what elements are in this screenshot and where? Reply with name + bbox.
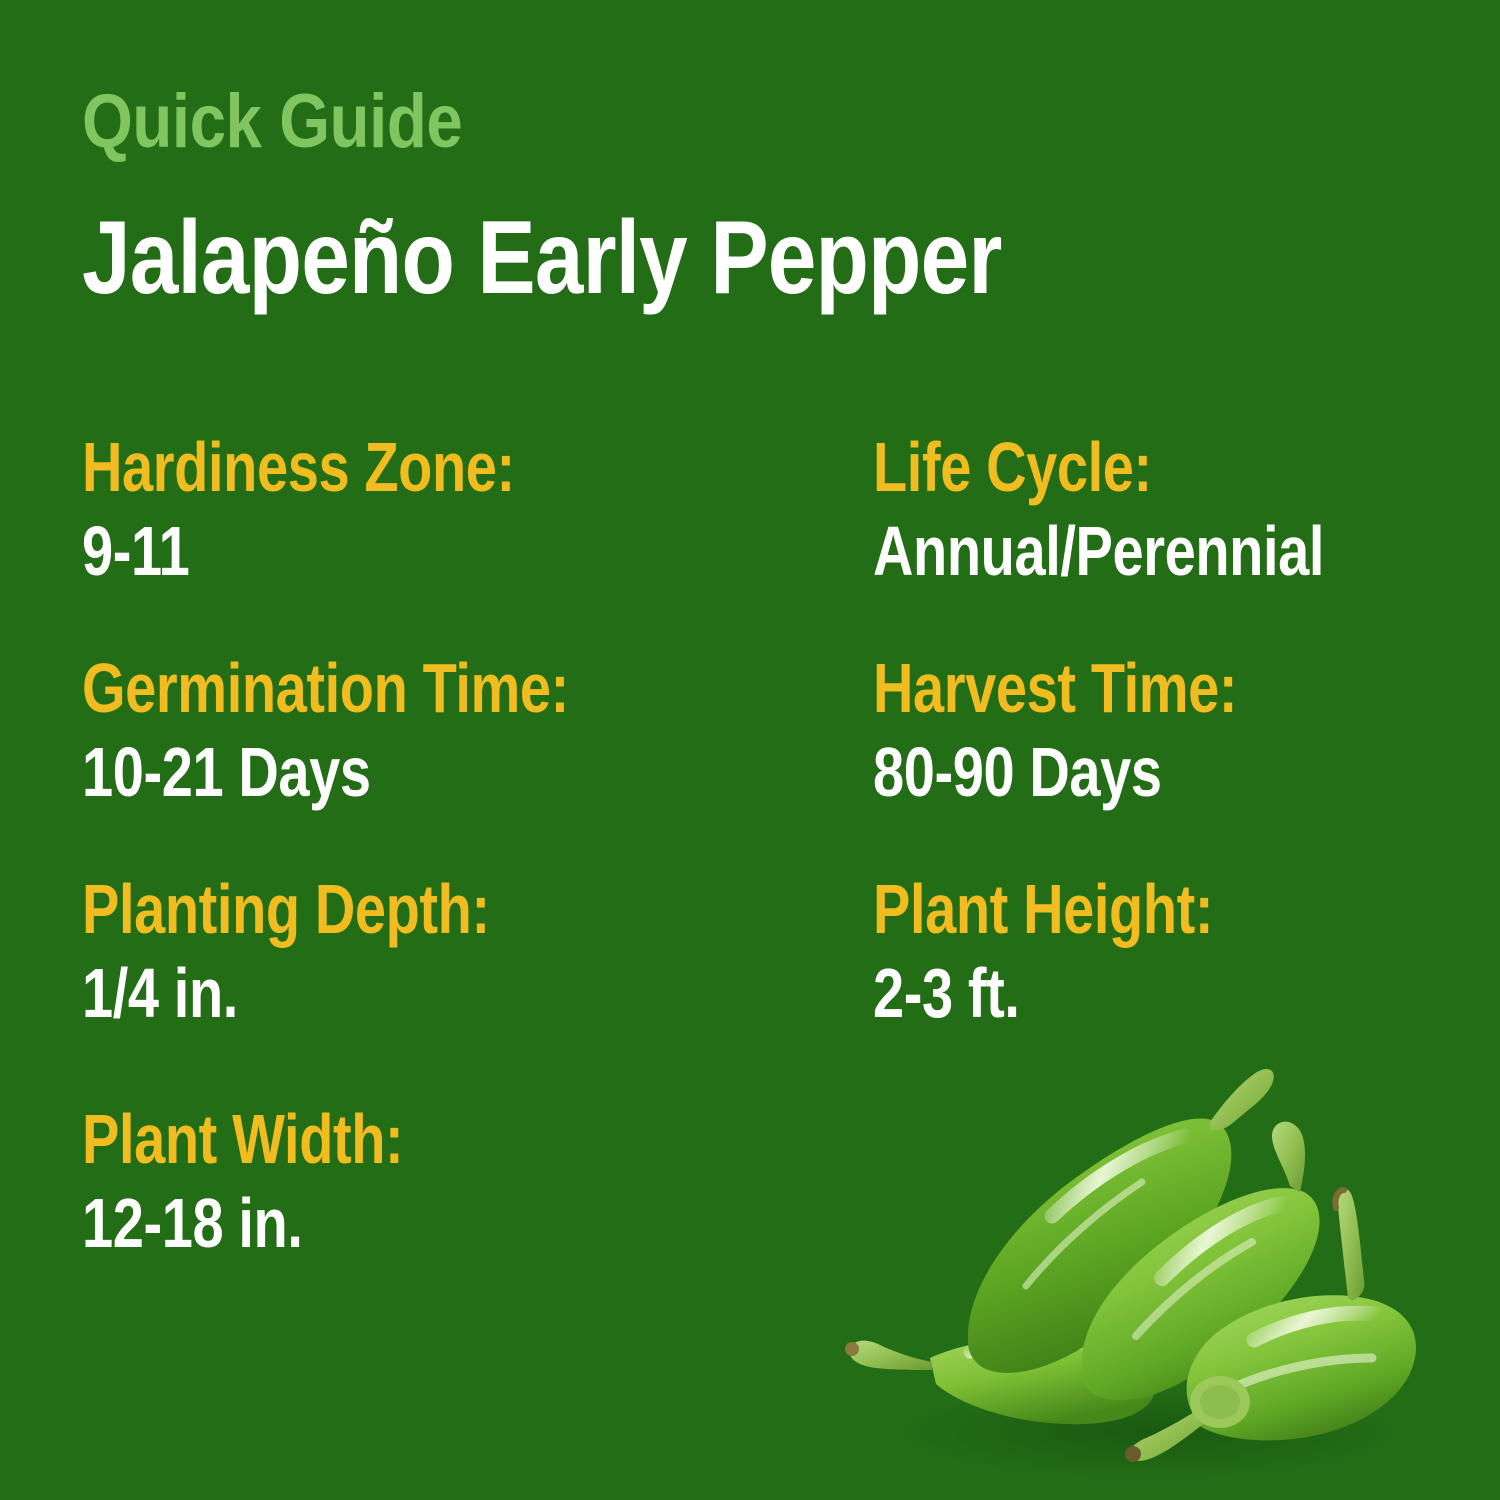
- fact-label: Life Cycle:: [873, 432, 1324, 502]
- fact-value: 12-18 in.: [82, 1188, 403, 1258]
- fact-label: Plant Width:: [82, 1104, 403, 1174]
- fact-hardiness-zone: Hardiness Zone: 9-11: [82, 432, 623, 586]
- fact-plant-height: Plant Height: 2-3 ft.: [873, 874, 1298, 1028]
- fact-value: 2-3 ft.: [873, 958, 1213, 1028]
- fact-value: 80-90 Days: [873, 737, 1237, 807]
- fact-life-cycle: Life Cycle: Annual/Perennial: [873, 432, 1437, 586]
- fact-label: Plant Height:: [873, 874, 1213, 944]
- quick-guide-card: Quick Guide Jalapeño Early Pepper Hardin…: [0, 0, 1500, 1500]
- page-title: Jalapeño Early Pepper: [82, 206, 1001, 310]
- fact-harvest-time: Harvest Time: 80-90 Days: [873, 653, 1328, 807]
- fact-value: 9-11: [82, 516, 515, 586]
- fact-plant-width: Plant Width: 12-18 in.: [82, 1104, 484, 1258]
- fact-label: Hardiness Zone:: [82, 432, 515, 502]
- eyebrow-label: Quick Guide: [82, 84, 462, 160]
- jalapeno-peppers-photo: [820, 1040, 1500, 1500]
- fact-label: Harvest Time:: [873, 653, 1237, 723]
- fact-germination-time: Germination Time: 10-21 Days: [82, 653, 691, 807]
- fact-value: 10-21 Days: [82, 737, 569, 807]
- fact-value: Annual/Perennial: [873, 516, 1324, 586]
- fact-planting-depth: Planting Depth: 1/4 in.: [82, 874, 592, 1028]
- fact-value: 1/4 in.: [82, 958, 490, 1028]
- fact-label: Germination Time:: [82, 653, 569, 723]
- fact-label: Planting Depth:: [82, 874, 490, 944]
